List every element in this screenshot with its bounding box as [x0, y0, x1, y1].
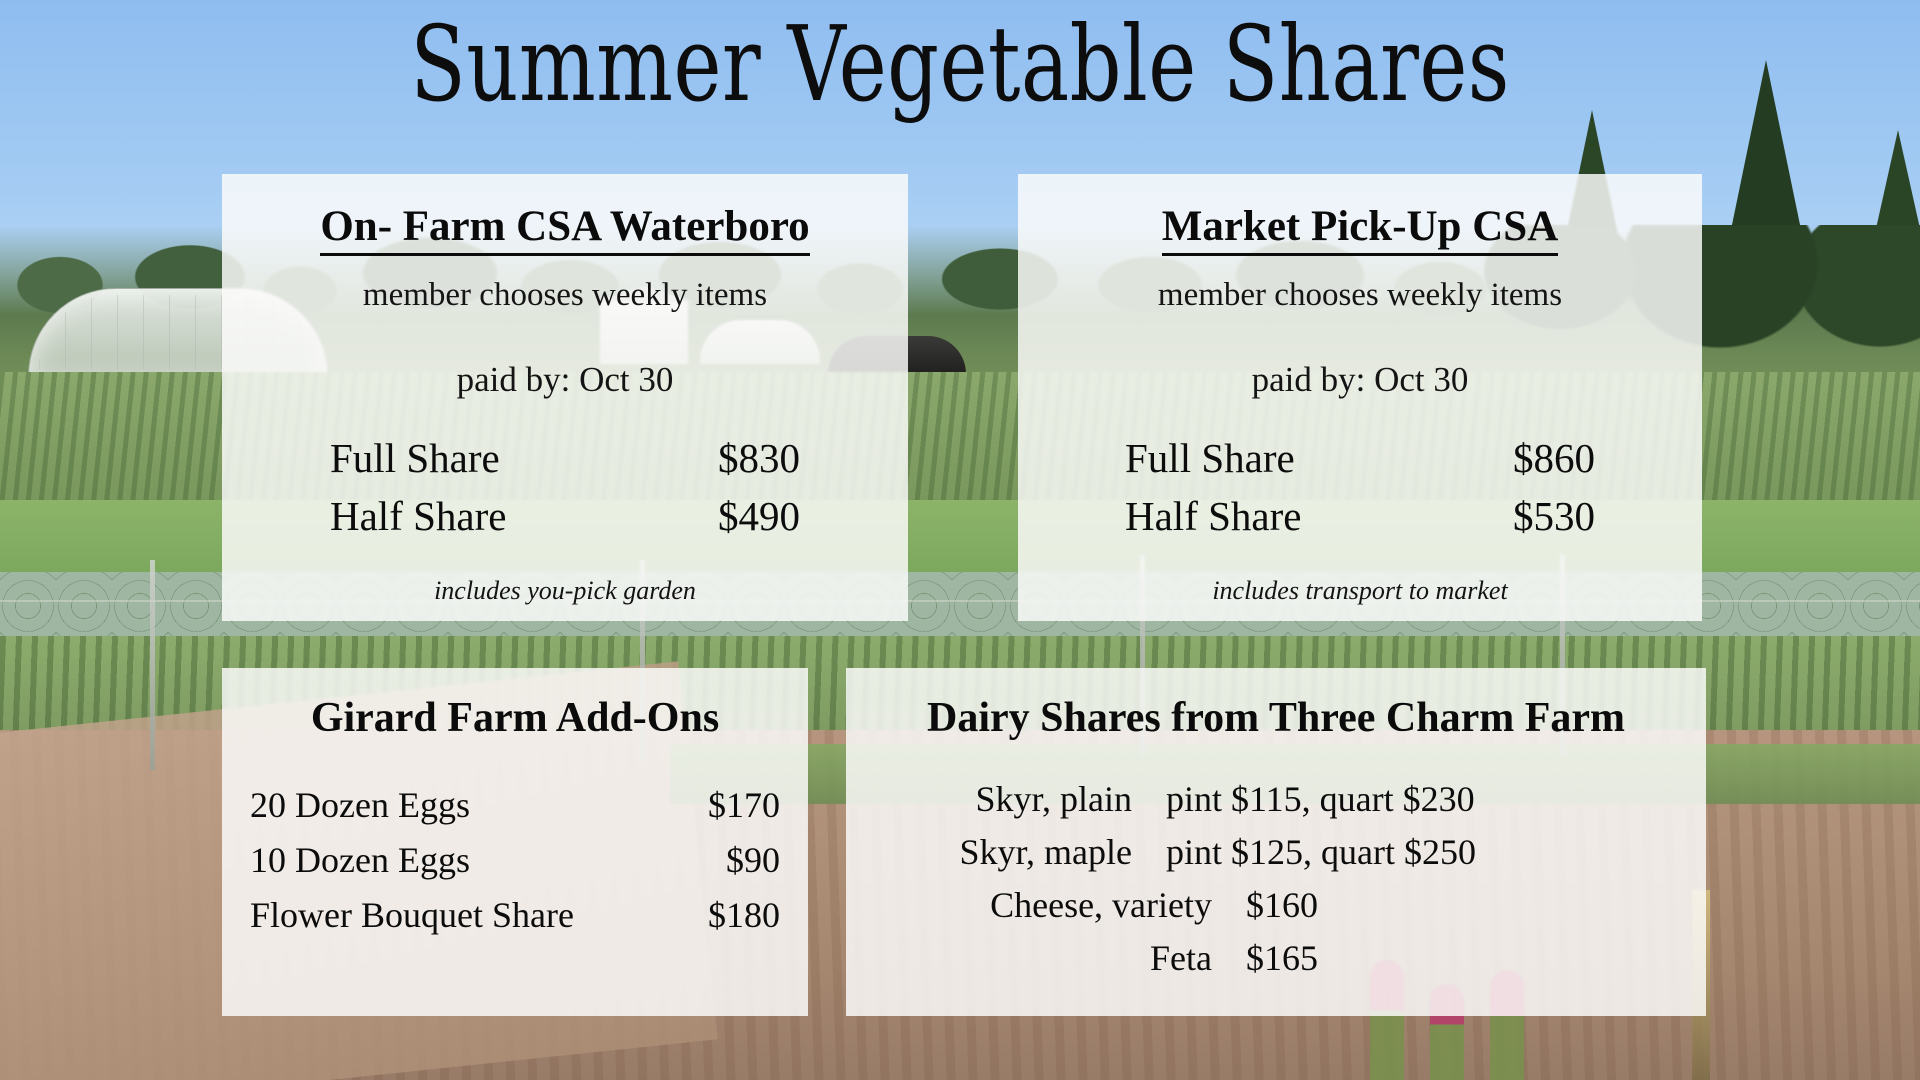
- addon-row: 10 Dozen Eggs $90: [250, 839, 780, 881]
- dairy-row: Cheese, variety $160: [916, 884, 1636, 926]
- dairy-item-price: $160: [1246, 884, 1318, 926]
- card-heading-text: Market Pick-Up CSA: [1162, 203, 1559, 256]
- dairy-item-name: Cheese, variety: [916, 884, 1246, 926]
- card-heading: On- Farm CSA Waterboro: [222, 202, 908, 251]
- addon-value: $180: [670, 894, 780, 936]
- dairy-item-name: Feta: [916, 937, 1246, 979]
- addon-value: $170: [670, 784, 780, 826]
- card-on-farm-csa: On- Farm CSA Waterboro member chooses we…: [222, 174, 908, 621]
- card-market-pickup-csa: Market Pick-Up CSA member chooses weekly…: [1018, 174, 1702, 621]
- dairy-item-price: pint $115, quart $230: [1166, 778, 1475, 820]
- dairy-table: Skyr, plain pint $115, quart $230 Skyr, …: [916, 778, 1636, 979]
- dairy-item-name: Skyr, maple: [916, 831, 1166, 873]
- card-heading: Dairy Shares from Three Charm Farm: [846, 694, 1706, 742]
- card-payment-deadline: paid by: Oct 30: [1018, 360, 1702, 400]
- price-value: $530: [1465, 492, 1595, 540]
- dairy-row: Skyr, plain pint $115, quart $230: [916, 778, 1636, 820]
- price-row: Full Share $860: [1125, 434, 1595, 482]
- dairy-item-name: Skyr, plain: [916, 778, 1166, 820]
- card-note: includes transport to market: [1018, 576, 1702, 606]
- card-heading-text: On- Farm CSA Waterboro: [320, 203, 809, 256]
- price-row: Half Share $530: [1125, 492, 1595, 540]
- price-label: Half Share: [330, 492, 506, 540]
- price-value: $830: [670, 434, 800, 482]
- price-label: Full Share: [1125, 434, 1295, 482]
- card-heading: Girard Farm Add-Ons: [222, 694, 808, 742]
- price-value: $860: [1465, 434, 1595, 482]
- addon-value: $90: [670, 839, 780, 881]
- card-subtitle: member chooses weekly items: [222, 277, 908, 314]
- card-heading: Market Pick-Up CSA: [1018, 202, 1702, 251]
- addon-row: Flower Bouquet Share $180: [250, 894, 780, 936]
- price-value: $490: [670, 492, 800, 540]
- addon-label: 20 Dozen Eggs: [250, 784, 470, 826]
- price-label: Full Share: [330, 434, 500, 482]
- card-subtitle: member chooses weekly items: [1018, 277, 1702, 314]
- card-note: includes you-pick garden: [222, 576, 908, 606]
- dairy-row: Feta $165: [916, 937, 1636, 979]
- price-table: Full Share $830 Half Share $490: [330, 434, 800, 540]
- card-girard-farm-addons: Girard Farm Add-Ons 20 Dozen Eggs $170 1…: [222, 668, 808, 1016]
- dairy-item-price: pint $125, quart $250: [1166, 831, 1476, 873]
- addon-row: 20 Dozen Eggs $170: [250, 784, 780, 826]
- addon-table: 20 Dozen Eggs $170 10 Dozen Eggs $90 Flo…: [250, 784, 780, 936]
- price-row: Half Share $490: [330, 492, 800, 540]
- dairy-item-price: $165: [1246, 937, 1318, 979]
- page-title: Summer Vegetable Shares: [211, 8, 1709, 120]
- addon-label: 10 Dozen Eggs: [250, 839, 470, 881]
- addon-label: Flower Bouquet Share: [250, 894, 574, 936]
- price-table: Full Share $860 Half Share $530: [1125, 434, 1595, 540]
- price-label: Half Share: [1125, 492, 1301, 540]
- card-payment-deadline: paid by: Oct 30: [222, 360, 908, 400]
- price-row: Full Share $830: [330, 434, 800, 482]
- dairy-row: Skyr, maple pint $125, quart $250: [916, 831, 1636, 873]
- card-dairy-shares: Dairy Shares from Three Charm Farm Skyr,…: [846, 668, 1706, 1016]
